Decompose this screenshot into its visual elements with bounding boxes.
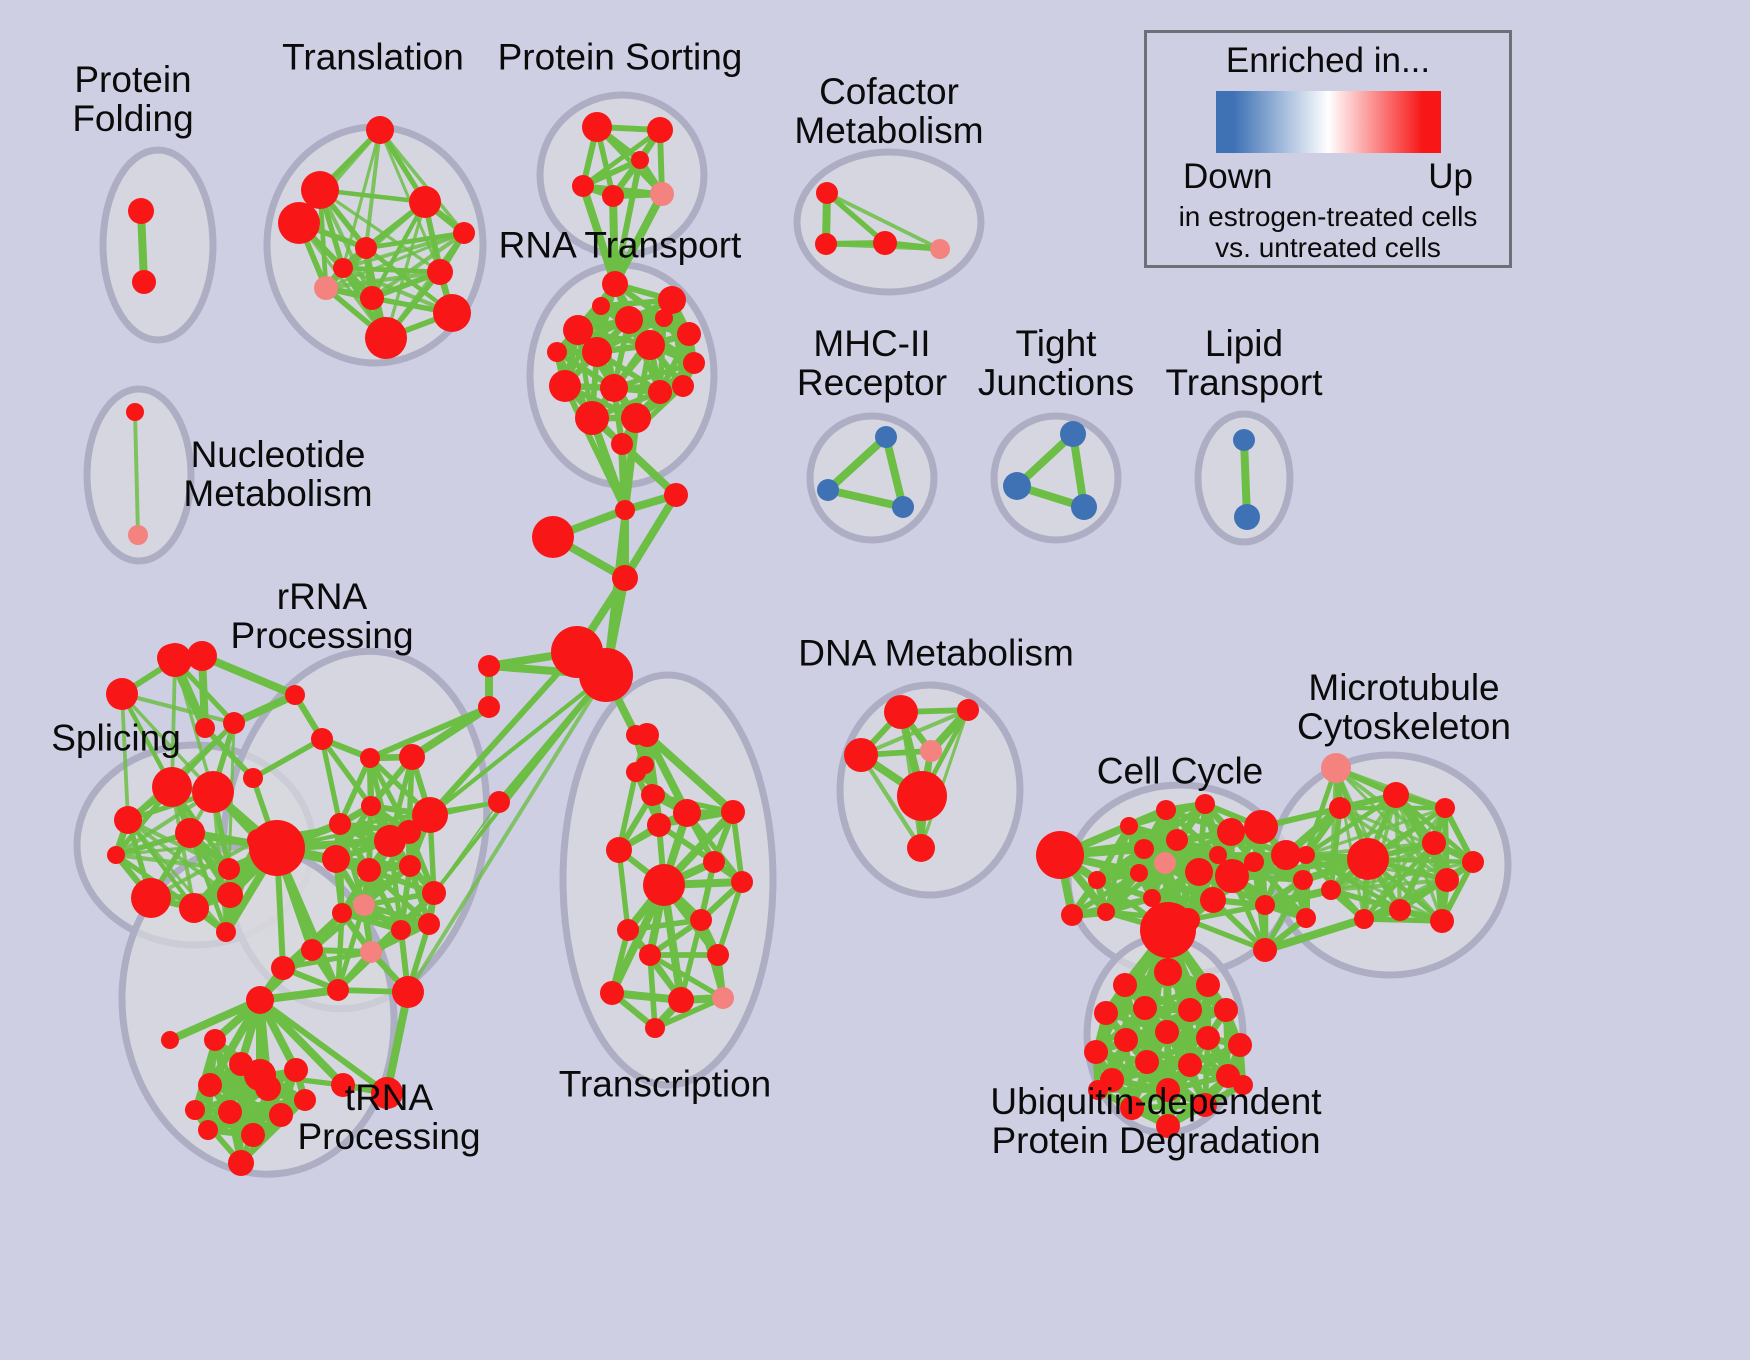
gene-set-node[interactable] (1383, 782, 1409, 808)
gene-set-node[interactable] (1271, 840, 1301, 870)
gene-set-node[interactable] (612, 565, 638, 591)
gene-set-node[interactable] (114, 806, 142, 834)
gene-set-node[interactable] (357, 858, 381, 882)
gene-set-node[interactable] (1088, 1080, 1108, 1100)
cluster-ellipse-protein-sorting (540, 95, 704, 255)
gene-set-node[interactable] (721, 800, 745, 824)
gene-set-node[interactable] (106, 678, 138, 710)
gene-set-node[interactable] (1347, 838, 1389, 880)
gene-set-node[interactable] (1354, 909, 1374, 929)
gene-set-node[interactable] (1200, 887, 1226, 913)
gene-set-node[interactable] (1156, 1114, 1180, 1138)
legend-subtitle: in estrogen-treated cells vs. untreated … (1179, 201, 1478, 264)
edge (202, 656, 295, 695)
gene-set-node[interactable] (1134, 839, 1154, 859)
gene-set-node[interactable] (1060, 421, 1086, 447)
gene-set-node[interactable] (353, 894, 375, 916)
legend-panel: Enriched in... Down Up in estrogen-treat… (1144, 30, 1512, 268)
gene-set-node[interactable] (128, 525, 148, 545)
gene-set-node[interactable] (1120, 1096, 1144, 1120)
gene-set-node[interactable] (198, 1120, 218, 1140)
gene-set-node[interactable] (195, 718, 215, 738)
gene-set-node[interactable] (1061, 904, 1083, 926)
color-scale-bar (1216, 91, 1441, 153)
gene-set-node[interactable] (278, 202, 320, 244)
gene-set-node[interactable] (228, 1150, 254, 1176)
gene-set-node[interactable] (185, 1100, 205, 1120)
gene-set-node[interactable] (645, 1018, 665, 1038)
gene-set-node[interactable] (361, 796, 381, 816)
gene-set-node[interactable] (418, 913, 440, 935)
gene-set-node[interactable] (1233, 429, 1255, 451)
gene-set-node[interactable] (1321, 880, 1341, 900)
gene-set-node[interactable] (712, 987, 734, 1009)
gene-set-node[interactable] (157, 644, 185, 672)
gene-set-node[interactable] (677, 322, 701, 346)
gene-set-node[interactable] (175, 818, 205, 848)
enrichment-map-figure: Protein FoldingTranslationProtein Sortin… (0, 0, 1750, 1360)
gene-set-node[interactable] (360, 286, 384, 310)
gene-set-node[interactable] (1209, 846, 1227, 864)
gene-set-node[interactable] (683, 352, 705, 374)
gene-set-node[interactable] (602, 185, 624, 207)
gene-set-node[interactable] (579, 648, 633, 702)
gene-set-node[interactable] (301, 939, 323, 961)
gene-set-node[interactable] (1253, 938, 1277, 962)
gene-set-node[interactable] (1297, 846, 1315, 864)
gene-set-node[interactable] (409, 186, 441, 218)
gene-set-node[interactable] (635, 330, 665, 360)
gene-set-node[interactable] (600, 981, 624, 1005)
gene-set-node[interactable] (128, 198, 154, 224)
gene-set-node[interactable] (301, 171, 339, 209)
gene-set-node[interactable] (422, 881, 446, 905)
gene-set-node[interactable] (631, 151, 649, 169)
gene-set-node[interactable] (229, 1052, 253, 1076)
gene-set-node[interactable] (371, 1077, 403, 1109)
gene-set-node[interactable] (294, 1089, 316, 1111)
gene-set-node[interactable] (731, 871, 753, 893)
gene-set-node[interactable] (1228, 1033, 1252, 1057)
gene-set-node[interactable] (1244, 852, 1264, 872)
gene-set-node[interactable] (639, 944, 661, 966)
gene-set-node[interactable] (1166, 829, 1188, 851)
gene-set-node[interactable] (478, 696, 500, 718)
gene-set-node[interactable] (360, 748, 380, 768)
gene-set-node[interactable] (615, 306, 643, 334)
gene-set-node[interactable] (331, 1073, 355, 1097)
gene-set-node[interactable] (1178, 1053, 1202, 1077)
gene-set-node[interactable] (1130, 864, 1148, 882)
gene-set-node[interactable] (1233, 1075, 1253, 1095)
gene-set-node[interactable] (1435, 798, 1455, 818)
gene-set-node[interactable] (284, 1058, 308, 1082)
gene-set-node[interactable] (703, 851, 725, 873)
gene-set-node[interactable] (668, 987, 694, 1013)
cluster-ellipse-mhc-ii-receptor (810, 416, 934, 540)
gene-set-node[interactable] (216, 922, 236, 942)
gene-set-node[interactable] (816, 182, 838, 204)
gene-set-node[interactable] (645, 785, 665, 805)
legend-subtitle-line1: in estrogen-treated cells (1179, 201, 1478, 232)
gene-set-node[interactable] (478, 655, 500, 677)
gene-set-node[interactable] (1234, 504, 1260, 530)
gene-set-node[interactable] (636, 756, 654, 774)
gene-set-node[interactable] (1154, 958, 1182, 986)
edge (1442, 808, 1445, 921)
gene-set-node[interactable] (1329, 797, 1351, 819)
gene-set-node[interactable] (391, 920, 411, 940)
gene-set-node[interactable] (957, 699, 979, 721)
gene-set-node[interactable] (1003, 472, 1031, 500)
gene-set-node[interactable] (707, 944, 729, 966)
gene-set-node[interactable] (547, 342, 567, 362)
gene-set-node[interactable] (223, 712, 245, 734)
gene-set-node[interactable] (617, 919, 639, 941)
gene-set-node[interactable] (1036, 831, 1084, 879)
gene-set-node[interactable] (126, 403, 144, 421)
gene-set-node[interactable] (218, 1100, 242, 1124)
gene-set-node[interactable] (327, 979, 349, 1001)
gene-set-node[interactable] (1088, 871, 1106, 889)
gene-set-node[interactable] (488, 791, 510, 813)
gene-set-node[interactable] (1097, 903, 1115, 921)
gene-set-node[interactable] (626, 725, 646, 745)
gene-set-node[interactable] (311, 728, 333, 750)
gene-set-node[interactable] (179, 893, 209, 923)
gene-set-node[interactable] (920, 740, 942, 762)
gene-set-node[interactable] (1195, 794, 1215, 814)
gene-set-node[interactable] (1176, 908, 1200, 932)
gene-set-node[interactable] (582, 337, 612, 367)
gene-set-node[interactable] (1435, 868, 1459, 892)
gene-set-node[interactable] (892, 496, 914, 518)
gene-set-node[interactable] (204, 1029, 226, 1051)
gene-set-node[interactable] (243, 768, 263, 788)
gene-set-node[interactable] (218, 858, 240, 880)
gene-set-node[interactable] (399, 744, 425, 770)
gene-set-node[interactable] (582, 112, 612, 142)
gene-set-node[interactable] (1196, 973, 1220, 997)
gene-set-node[interactable] (322, 845, 350, 873)
gene-set-node[interactable] (1255, 895, 1275, 915)
gene-set-node[interactable] (575, 401, 609, 435)
gene-set-node[interactable] (549, 370, 581, 402)
gene-set-node[interactable] (650, 182, 674, 206)
gene-set-node[interactable] (198, 1073, 222, 1097)
gene-set-node[interactable] (1293, 870, 1313, 890)
gene-set-node[interactable] (255, 1075, 281, 1101)
gene-set-node[interactable] (615, 500, 635, 520)
gene-set-node[interactable] (1196, 1026, 1220, 1050)
gene-set-node[interactable] (1156, 800, 1176, 820)
gene-set-node[interactable] (1215, 859, 1249, 893)
gene-set-node[interactable] (397, 820, 421, 844)
gene-set-node[interactable] (249, 820, 305, 876)
gene-set-node[interactable] (648, 380, 672, 404)
gene-set-node[interactable] (453, 222, 475, 244)
gene-set-node[interactable] (269, 1103, 293, 1127)
legend-endpoints: Down Up (1183, 157, 1473, 197)
gene-set-node[interactable] (1389, 899, 1411, 921)
gene-set-node[interactable] (1217, 818, 1245, 846)
gene-set-node[interactable] (107, 846, 125, 864)
gene-set-node[interactable] (1094, 1001, 1118, 1025)
gene-set-node[interactable] (1214, 998, 1238, 1022)
gene-set-node[interactable] (664, 483, 688, 507)
legend-subtitle-line2: vs. untreated cells (1179, 232, 1478, 263)
gene-set-node[interactable] (1296, 908, 1316, 928)
gene-set-node[interactable] (1084, 1040, 1108, 1064)
gene-set-node[interactable] (366, 116, 394, 144)
gene-set-node[interactable] (1133, 996, 1157, 1020)
gene-set-node[interactable] (930, 239, 950, 259)
gene-set-node[interactable] (1193, 1093, 1217, 1117)
gene-set-node[interactable] (1178, 998, 1202, 1022)
legend-title: Enriched in... (1226, 41, 1430, 81)
gene-set-node[interactable] (1430, 909, 1454, 933)
gene-set-node[interactable] (285, 685, 305, 705)
gene-set-node[interactable] (600, 374, 628, 402)
gene-set-node[interactable] (844, 738, 878, 772)
cluster-ellipse-protein-folding (103, 150, 213, 340)
gene-set-node[interactable] (1155, 1020, 1179, 1044)
gene-set-node[interactable] (621, 403, 651, 433)
gene-set-node[interactable] (1422, 831, 1446, 855)
gene-set-node[interactable] (161, 1031, 179, 1049)
gene-set-node[interactable] (1462, 851, 1484, 873)
gene-set-node[interactable] (1156, 1078, 1180, 1102)
gene-set-node[interactable] (365, 317, 407, 359)
gene-set-node[interactable] (1321, 753, 1351, 783)
legend-down-label: Down (1183, 157, 1272, 197)
gene-set-node[interactable] (132, 270, 156, 294)
gene-set-node[interactable] (399, 855, 421, 877)
gene-set-node[interactable] (884, 695, 918, 729)
gene-set-node[interactable] (1114, 1028, 1138, 1052)
gene-set-node[interactable] (1120, 817, 1138, 835)
gene-set-node[interactable] (332, 903, 352, 923)
gene-set-node[interactable] (131, 878, 171, 918)
gene-set-node[interactable] (643, 864, 685, 906)
gene-set-node[interactable] (673, 799, 701, 827)
gene-set-node[interactable] (355, 237, 377, 259)
gene-set-node[interactable] (817, 479, 839, 501)
gene-set-node[interactable] (241, 1123, 265, 1147)
gene-set-node[interactable] (1185, 858, 1213, 886)
gene-set-node[interactable] (647, 813, 671, 837)
gene-set-node[interactable] (271, 956, 295, 980)
gene-set-node[interactable] (314, 276, 338, 300)
gene-set-node[interactable] (611, 433, 633, 455)
gene-set-node[interactable] (192, 771, 234, 813)
gene-set-node[interactable] (532, 516, 574, 558)
gene-set-node[interactable] (592, 297, 610, 315)
gene-set-node[interactable] (1244, 810, 1278, 844)
gene-set-node[interactable] (815, 233, 837, 255)
gene-set-node[interactable] (602, 271, 628, 297)
gene-set-node[interactable] (873, 231, 897, 255)
gene-set-node[interactable] (392, 976, 424, 1008)
gene-set-node[interactable] (433, 294, 471, 332)
gene-set-node[interactable] (606, 837, 632, 863)
gene-set-node[interactable] (333, 258, 353, 278)
gene-set-node[interactable] (246, 986, 274, 1014)
gene-set-node[interactable] (187, 641, 217, 671)
gene-set-node[interactable] (572, 175, 594, 197)
gene-set-node[interactable] (655, 309, 673, 327)
gene-set-node[interactable] (897, 771, 947, 821)
gene-set-node[interactable] (690, 909, 712, 931)
gene-set-node[interactable] (875, 426, 897, 448)
gene-set-node[interactable] (217, 882, 243, 908)
gene-set-node[interactable] (427, 259, 453, 285)
gene-set-node[interactable] (1154, 852, 1176, 874)
gene-set-node[interactable] (647, 117, 673, 143)
gene-set-node[interactable] (1135, 1050, 1159, 1074)
gene-set-node[interactable] (907, 834, 935, 862)
gene-set-node[interactable] (152, 767, 192, 807)
gene-set-node[interactable] (1071, 494, 1097, 520)
gene-set-node[interactable] (360, 941, 382, 963)
legend-up-label: Up (1428, 157, 1473, 197)
gene-set-node[interactable] (672, 375, 694, 397)
gene-set-node[interactable] (329, 813, 351, 835)
gene-set-node[interactable] (1113, 973, 1137, 997)
